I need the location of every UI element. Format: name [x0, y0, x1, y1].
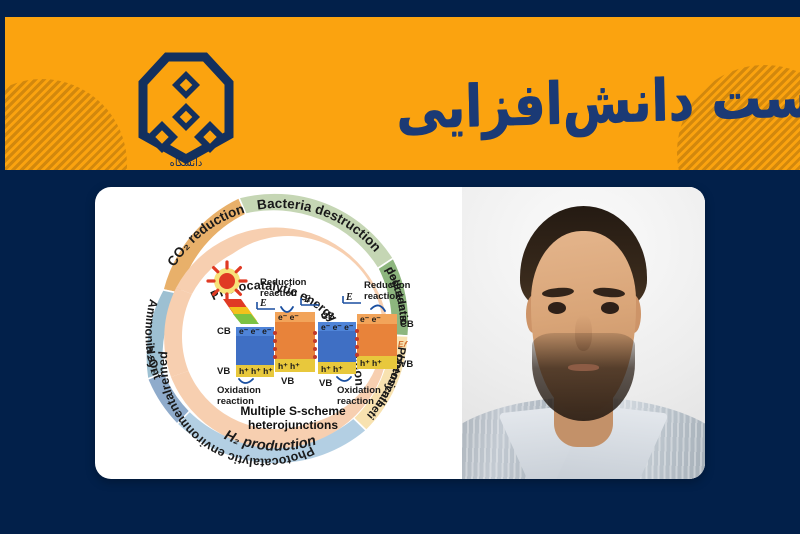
- content-card: CO₂ reduction Bacteria destruction pollu…: [95, 187, 705, 479]
- svg-text:e⁻ e⁻ e⁻: e⁻ e⁻ e⁻: [321, 322, 354, 332]
- band-label-vb-1: VB: [217, 366, 230, 377]
- university-logo: دانشگاه: [133, 43, 239, 170]
- band-label-vb-2: VB: [281, 376, 294, 387]
- annotation-oxidation-reaction-2: Oxidation: [337, 385, 381, 396]
- band-label-cb-2: CB: [321, 311, 335, 322]
- speaker-portrait: [462, 187, 705, 479]
- band-label-vb-3: VB: [319, 378, 332, 389]
- striped-circle-decoration-left: [5, 79, 127, 170]
- university-logo-script: دانشگاه: [133, 158, 239, 170]
- energy-axis-label-3: E: [345, 292, 353, 303]
- core-caption-line1: Multiple S-scheme: [240, 404, 346, 418]
- svg-text:h⁺ h⁺: h⁺ h⁺: [278, 361, 300, 371]
- svg-text:e⁻ e⁻: e⁻ e⁻: [360, 314, 381, 324]
- energy-axis-label-2: E: [303, 294, 311, 305]
- svg-text:h⁺ h⁺: h⁺ h⁺: [360, 358, 382, 368]
- annotation-reduction-reaction-2: Reduction: [364, 280, 411, 291]
- segment-label-ammonia-synthesis: Ammonia synthesis: [105, 187, 165, 381]
- event-title-text: نشست دانش‌افزایی: [396, 67, 800, 136]
- portrait-eye-right: [601, 302, 619, 314]
- band-label-cb-3: CB: [400, 319, 414, 330]
- svg-text:h⁺ h⁺: h⁺ h⁺: [321, 364, 343, 374]
- svg-text:h⁺ h⁺ h⁺: h⁺ h⁺ h⁺: [239, 366, 273, 376]
- annotation-oxidation-reaction-1: Oxidation: [217, 385, 261, 396]
- annotation-reduction-reaction-1: Reduction: [260, 277, 307, 288]
- band-label-vb-4: VB: [400, 359, 413, 370]
- annotation-reduction-reaction-1b: reaction: [260, 288, 297, 299]
- annotation-reduction-reaction-2b: reaction: [364, 291, 401, 302]
- portrait-mouth: [568, 364, 600, 372]
- energy-axis-label-1: E: [259, 298, 267, 309]
- sun-icon: [208, 262, 246, 300]
- photocatalysis-wheel-figure: CO₂ reduction Bacteria destruction pollu…: [105, 187, 471, 479]
- event-title-calligraphy: نشست دانش‌افزایی: [535, 39, 745, 164]
- header-banner: دانشگاه نشست دانش‌افزایی: [5, 17, 800, 170]
- band-label-cb-1: CB: [217, 326, 231, 337]
- core-caption-line2: heterojunctions: [248, 418, 338, 432]
- poster-root: دانشگاه نشست دانش‌افزایی: [0, 0, 800, 534]
- svg-text:e⁻ e⁻ e⁻: e⁻ e⁻ e⁻: [239, 326, 272, 336]
- svg-text:e⁻ e⁻: e⁻ e⁻: [278, 312, 299, 322]
